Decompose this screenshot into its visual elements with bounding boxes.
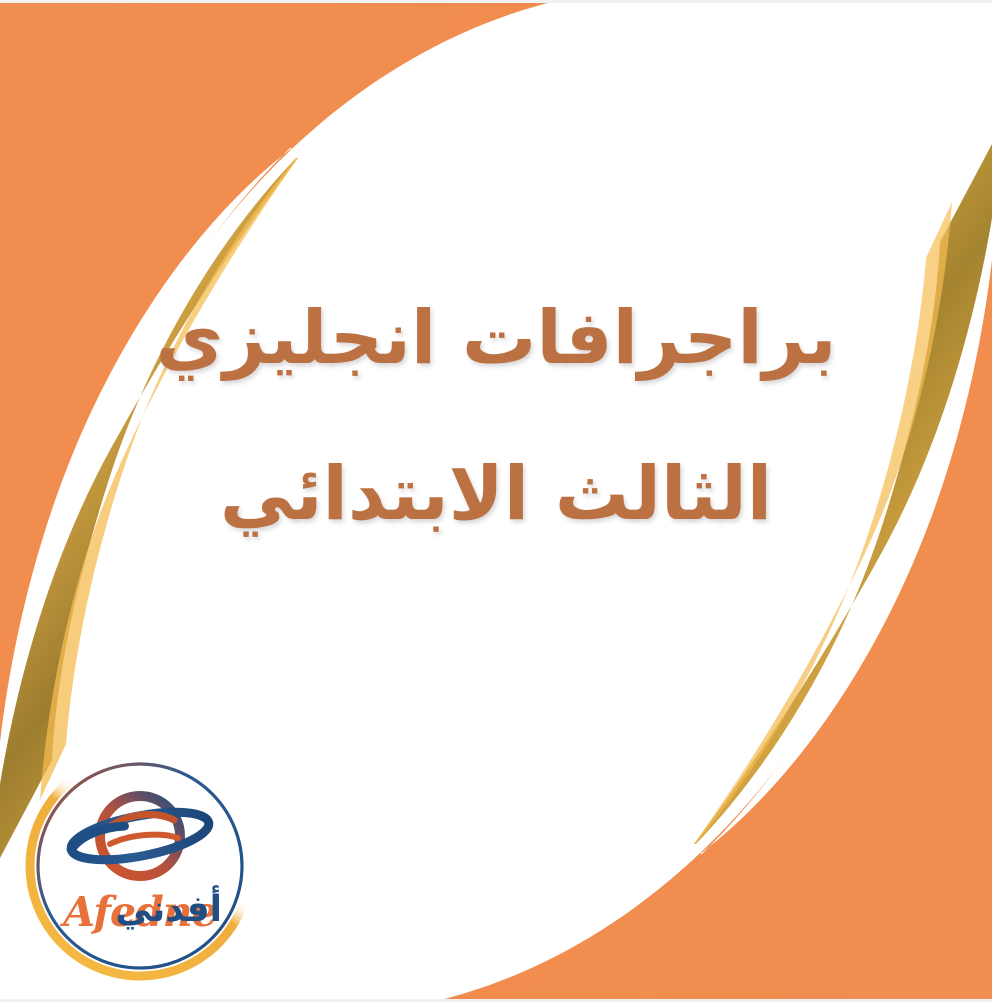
afedne-logo[interactable]: Afedne أفدني	[22, 748, 258, 984]
top-edge-rule	[0, 0, 992, 3]
slide-cover: براجرافات انجليزي الثالث الابتدائي	[0, 0, 992, 1002]
title-line-grade: الثالث الابتدائي	[0, 456, 992, 534]
cover-title-block: براجرافات انجليزي الثالث الابتدائي	[0, 300, 992, 533]
logo-svg	[22, 748, 258, 984]
title-line-subject: براجرافات انجليزي	[0, 300, 992, 378]
